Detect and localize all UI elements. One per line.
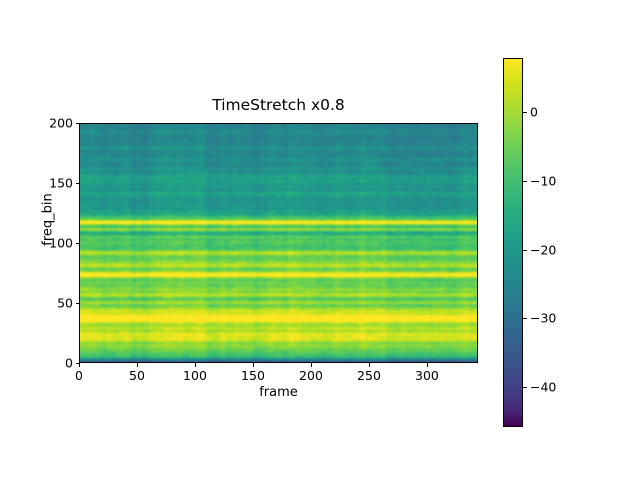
- colorbar-tick-mark: [523, 181, 527, 182]
- colorbar-tick-label: 0: [530, 105, 538, 120]
- x-axis-label: frame: [79, 385, 478, 400]
- y-tick-mark: [76, 243, 80, 244]
- x-tick-mark: [195, 363, 196, 367]
- colorbar-tick-label: −20: [530, 242, 556, 257]
- colorbar-tick-mark: [523, 250, 527, 251]
- x-tick-label: 50: [129, 368, 145, 383]
- y-tick-mark: [76, 303, 80, 304]
- x-tick-mark: [427, 363, 428, 367]
- y-tick-label: 50: [57, 296, 73, 311]
- x-tick-label: 150: [241, 368, 265, 383]
- colorbar-tick-mark: [523, 318, 527, 319]
- y-tick-label: 200: [49, 116, 73, 131]
- spectrogram-axes: [79, 123, 478, 363]
- x-tick-mark: [137, 363, 138, 367]
- colorbar-tick-mark: [523, 112, 527, 113]
- x-tick-mark: [253, 363, 254, 367]
- colorbar-tick-label: −40: [530, 380, 556, 395]
- x-tick-mark: [369, 363, 370, 367]
- y-tick-mark: [76, 363, 80, 364]
- figure-canvas: TimeStretch x0.8 050100150200250300 0501…: [0, 0, 640, 480]
- colorbar-tick-label: −30: [530, 311, 556, 326]
- x-tick-label: 250: [357, 368, 381, 383]
- colorbar-tick-label: −10: [530, 174, 556, 189]
- x-tick-mark: [311, 363, 312, 367]
- x-tick-label: 300: [415, 368, 439, 383]
- x-tick-label: 100: [183, 368, 207, 383]
- y-axis-label: freq_bin: [41, 160, 56, 280]
- x-tick-label: 200: [299, 368, 323, 383]
- y-tick-mark: [76, 123, 80, 124]
- colorbar-tick-mark: [523, 387, 527, 388]
- chart-title: TimeStretch x0.8: [79, 96, 478, 114]
- x-tick-mark: [79, 363, 80, 367]
- y-tick-label: 0: [65, 356, 73, 371]
- spectrogram-image: [80, 124, 478, 363]
- x-tick-label: 0: [75, 368, 83, 383]
- colorbar-gradient: [503, 58, 523, 427]
- y-tick-mark: [76, 183, 80, 184]
